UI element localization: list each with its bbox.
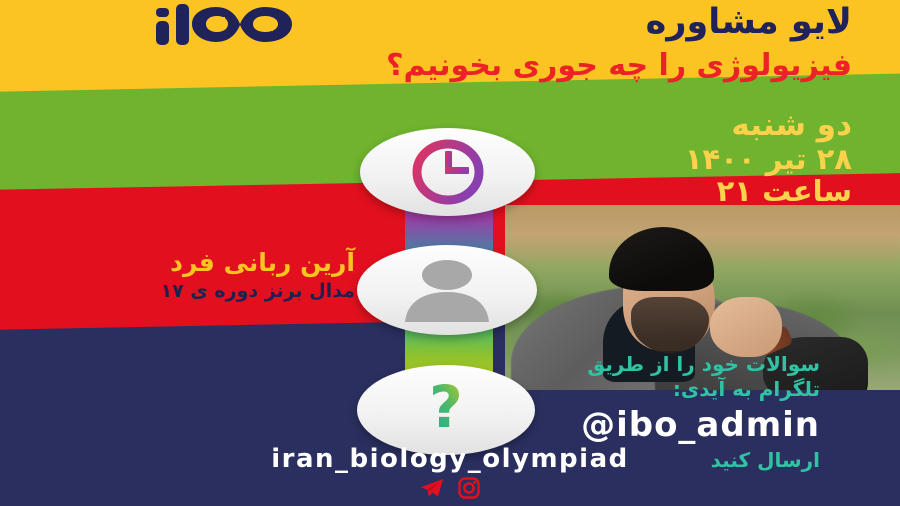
user-bubble bbox=[357, 245, 537, 335]
question-mark-icon: ? bbox=[418, 377, 474, 443]
event-time: ساعت ۲۱ bbox=[685, 175, 852, 207]
event-day: دو شنبه bbox=[685, 108, 852, 143]
ibo-logo-icon bbox=[152, 2, 312, 48]
contact-line-2: تلگرام به آیدی: bbox=[581, 377, 820, 402]
telegram-icon[interactable] bbox=[419, 476, 445, 500]
telegram-handle[interactable]: @ibo_admin bbox=[581, 404, 820, 447]
page-subtitle: فیزیولوژی را چه جوری بخونیم؟ bbox=[386, 48, 852, 83]
event-date-block: دو شنبه ۲۸ تیر ۱۴۰۰ ساعت ۲۱ bbox=[685, 108, 852, 208]
social-handle[interactable]: iran_biology_olympiad bbox=[0, 444, 900, 474]
page-title: لایو مشاوره bbox=[646, 2, 852, 42]
footer: iran_biology_olympiad bbox=[0, 444, 900, 500]
speaker-name: آرین ربانی فرد bbox=[161, 248, 355, 278]
question-bubble: ? bbox=[357, 365, 535, 455]
svg-text:?: ? bbox=[429, 377, 463, 441]
social-icons bbox=[0, 476, 900, 500]
clock-icon bbox=[411, 139, 485, 205]
ibo-logo[interactable] bbox=[152, 2, 312, 52]
speaker-block: آرین ربانی فرد مدال برنز دوره ی ۱۷ bbox=[161, 248, 355, 303]
contact-line-1: سوالات خود را از طریق bbox=[581, 352, 820, 377]
event-date: ۲۸ تیر ۱۴۰۰ bbox=[685, 143, 852, 175]
clock-bubble bbox=[360, 128, 535, 216]
user-icon bbox=[399, 258, 495, 322]
poster-canvas: ? لایو مشاوره فیزیولوژی را چه جوری بخونی… bbox=[0, 0, 900, 506]
instagram-icon[interactable] bbox=[457, 476, 481, 500]
speaker-credential: مدال برنز دوره ی ۱۷ bbox=[161, 280, 355, 303]
